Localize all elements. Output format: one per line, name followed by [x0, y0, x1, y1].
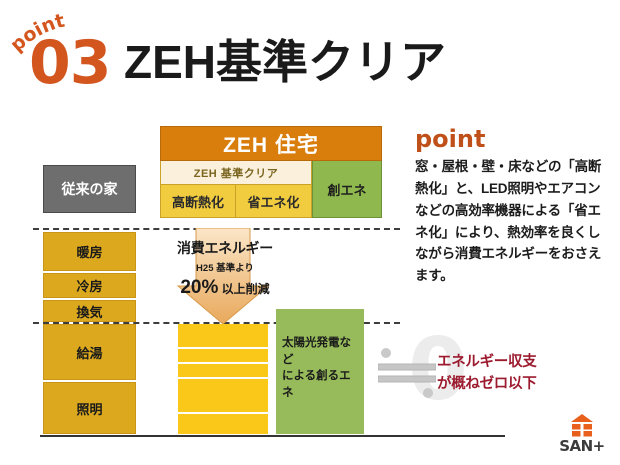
arrow-percent-suffix: 以上削減 — [218, 282, 269, 296]
chart-baseline — [40, 435, 505, 437]
energy-balance-text: エネルギー収支 が概ねゼロ以下 — [437, 352, 607, 396]
zeh-bar-segment-5 — [178, 414, 268, 434]
legacy-bar-ventilation: 換気 — [43, 300, 136, 322]
created-energy-bar: 太陽光発電など による創るエネ — [276, 309, 364, 434]
logo-text: SAN+ — [556, 437, 608, 455]
legacy-bar-cooling: 冷房 — [43, 273, 136, 298]
arrow-label-reduction: 20% 以上削減 — [150, 277, 300, 299]
point-number: 03 — [29, 33, 111, 93]
zeh-standard-badge: ZEH 基準クリア — [160, 161, 312, 185]
legacy-bar-hot-water: 給湯 — [43, 324, 136, 380]
house-icon — [570, 413, 594, 437]
infographic-canvas: point 03 ZEH基準クリア 従来の家 暖房 冷房 換気 給湯 照明 ZE… — [0, 0, 620, 465]
zeh-cell-energy-saving: 省エネ化 — [236, 185, 312, 218]
point-panel-body: 窓・屋根・壁・床などの「高断熱化」と、LED照明やエアコンなどの高効率機器による… — [415, 156, 607, 287]
arrow-label-standard: H25 基準より — [150, 260, 300, 274]
zeh-house-title: ZEH 住宅 — [160, 126, 382, 161]
page-title: ZEH基準クリア — [124, 38, 446, 86]
zeh-bar-segment-1 — [178, 324, 268, 347]
energy-balance-line-2: が概ねゼロ以下 — [437, 374, 607, 396]
zeh-cell-energy-creation: 創エネ — [312, 161, 382, 218]
legacy-bar-heating: 暖房 — [43, 232, 136, 271]
arrow-percent-value: 20% — [180, 277, 218, 298]
created-energy-line-2: による創るエネ — [282, 368, 359, 401]
san-plus-logo: SAN+ — [556, 413, 608, 459]
zeh-cell-insulation: 高断熱化 — [160, 185, 236, 218]
zeh-bar-segment-2 — [178, 349, 268, 362]
legacy-bar-lighting: 照明 — [43, 382, 136, 434]
approximately-equal-icon — [378, 346, 436, 398]
created-energy-line-1: 太陽光発電など — [282, 335, 359, 368]
arrow-label-consumption: 消費エネルギー — [150, 238, 300, 258]
reduction-arrow-labels: 消費エネルギー H25 基準より 20% 以上削減 — [150, 238, 300, 299]
zeh-bar-segment-3 — [178, 364, 268, 377]
legacy-house-header: 従来の家 — [43, 165, 136, 213]
point-panel-heading: point — [415, 127, 485, 151]
zeh-bar-segment-4 — [178, 379, 268, 412]
energy-balance-line-1: エネルギー収支 — [437, 352, 607, 374]
